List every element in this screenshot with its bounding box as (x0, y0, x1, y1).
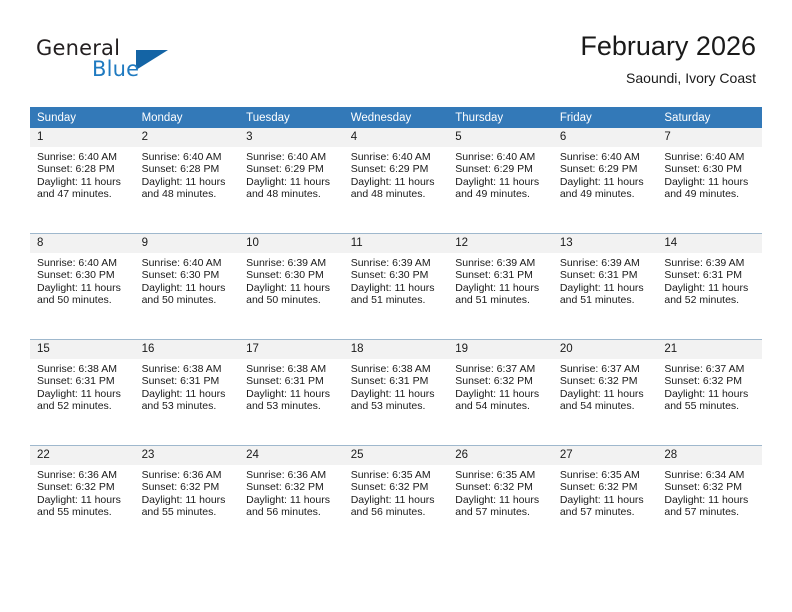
day-number: 23 (135, 446, 240, 465)
calendar-day-cell[interactable]: 20Sunrise: 6:37 AMSunset: 6:32 PMDayligh… (553, 340, 658, 446)
day-number: 22 (30, 446, 135, 465)
page-subtitle: Saoundi, Ivory Coast (580, 70, 756, 87)
calendar-day-cell[interactable]: 6Sunrise: 6:40 AMSunset: 6:29 PMDaylight… (553, 128, 658, 234)
day-number: 19 (448, 340, 553, 359)
daylight-text: Daylight: 11 hours and 51 minutes. (455, 282, 545, 307)
day-details: Sunrise: 6:38 AMSunset: 6:31 PMDaylight:… (344, 359, 449, 413)
day-number: 18 (344, 340, 449, 359)
day-details: Sunrise: 6:36 AMSunset: 6:32 PMDaylight:… (30, 465, 135, 519)
daylight-text: Daylight: 11 hours and 55 minutes. (37, 494, 127, 519)
calendar-day-cell[interactable]: 17Sunrise: 6:38 AMSunset: 6:31 PMDayligh… (239, 340, 344, 446)
sunrise-text: Sunrise: 6:40 AM (664, 151, 754, 163)
sunrise-text: Sunrise: 6:39 AM (664, 257, 754, 269)
sunrise-text: Sunrise: 6:40 AM (246, 151, 336, 163)
day-details: Sunrise: 6:39 AMSunset: 6:31 PMDaylight:… (657, 253, 762, 307)
daylight-text: Daylight: 11 hours and 57 minutes. (455, 494, 545, 519)
sunrise-text: Sunrise: 6:38 AM (246, 363, 336, 375)
sunrise-text: Sunrise: 6:37 AM (455, 363, 545, 375)
sunset-text: Sunset: 6:32 PM (246, 481, 336, 493)
sunset-text: Sunset: 6:32 PM (664, 375, 754, 387)
sunset-text: Sunset: 6:29 PM (351, 163, 441, 175)
sunrise-text: Sunrise: 6:40 AM (37, 151, 127, 163)
daylight-text: Daylight: 11 hours and 48 minutes. (246, 176, 336, 201)
sunrise-text: Sunrise: 6:40 AM (142, 257, 232, 269)
daylight-text: Daylight: 11 hours and 52 minutes. (37, 388, 127, 413)
daylight-text: Daylight: 11 hours and 50 minutes. (246, 282, 336, 307)
sunrise-text: Sunrise: 6:38 AM (37, 363, 127, 375)
day-details: Sunrise: 6:40 AMSunset: 6:29 PMDaylight:… (553, 147, 658, 201)
day-details: Sunrise: 6:40 AMSunset: 6:29 PMDaylight:… (344, 147, 449, 201)
calendar-day-cell[interactable]: 5Sunrise: 6:40 AMSunset: 6:29 PMDaylight… (448, 128, 553, 234)
day-number: 1 (30, 128, 135, 147)
calendar-day-cell[interactable]: 18Sunrise: 6:38 AMSunset: 6:31 PMDayligh… (344, 340, 449, 446)
calendar-day-cell[interactable]: 7Sunrise: 6:40 AMSunset: 6:30 PMDaylight… (657, 128, 762, 234)
day-details: Sunrise: 6:35 AMSunset: 6:32 PMDaylight:… (344, 465, 449, 519)
sunrise-text: Sunrise: 6:39 AM (560, 257, 650, 269)
calendar-day-cell[interactable]: 27Sunrise: 6:35 AMSunset: 6:32 PMDayligh… (553, 446, 658, 552)
day-details: Sunrise: 6:38 AMSunset: 6:31 PMDaylight:… (30, 359, 135, 413)
sunrise-text: Sunrise: 6:34 AM (664, 469, 754, 481)
daylight-text: Daylight: 11 hours and 57 minutes. (560, 494, 650, 519)
sunrise-text: Sunrise: 6:35 AM (455, 469, 545, 481)
calendar-day-cell[interactable]: 8Sunrise: 6:40 AMSunset: 6:30 PMDaylight… (30, 234, 135, 340)
daylight-text: Daylight: 11 hours and 51 minutes. (560, 282, 650, 307)
sunset-text: Sunset: 6:31 PM (246, 375, 336, 387)
calendar-day-cell[interactable]: 4Sunrise: 6:40 AMSunset: 6:29 PMDaylight… (344, 128, 449, 234)
day-number: 13 (553, 234, 658, 253)
calendar-header-row: Sunday Monday Tuesday Wednesday Thursday… (30, 107, 762, 128)
calendar-page: General Blue February 2026 Saoundi, Ivor… (0, 0, 792, 612)
daylight-text: Daylight: 11 hours and 53 minutes. (246, 388, 336, 413)
sunset-text: Sunset: 6:32 PM (37, 481, 127, 493)
daylight-text: Daylight: 11 hours and 56 minutes. (246, 494, 336, 519)
sunrise-text: Sunrise: 6:36 AM (37, 469, 127, 481)
day-details: Sunrise: 6:38 AMSunset: 6:31 PMDaylight:… (135, 359, 240, 413)
sunrise-text: Sunrise: 6:37 AM (664, 363, 754, 375)
calendar-day-cell[interactable]: 26Sunrise: 6:35 AMSunset: 6:32 PMDayligh… (448, 446, 553, 552)
day-number: 28 (657, 446, 762, 465)
calendar-day-cell[interactable]: 12Sunrise: 6:39 AMSunset: 6:31 PMDayligh… (448, 234, 553, 340)
weekday-header-sunday: Sunday (30, 107, 135, 128)
day-details: Sunrise: 6:39 AMSunset: 6:31 PMDaylight:… (448, 253, 553, 307)
day-number: 16 (135, 340, 240, 359)
daylight-text: Daylight: 11 hours and 49 minutes. (664, 176, 754, 201)
daylight-text: Daylight: 11 hours and 48 minutes. (351, 176, 441, 201)
daylight-text: Daylight: 11 hours and 50 minutes. (37, 282, 127, 307)
daylight-text: Daylight: 11 hours and 49 minutes. (560, 176, 650, 201)
calendar-day-cell[interactable]: 11Sunrise: 6:39 AMSunset: 6:30 PMDayligh… (344, 234, 449, 340)
calendar-day-cell[interactable]: 28Sunrise: 6:34 AMSunset: 6:32 PMDayligh… (657, 446, 762, 552)
day-details: Sunrise: 6:39 AMSunset: 6:30 PMDaylight:… (344, 253, 449, 307)
sunrise-text: Sunrise: 6:35 AM (351, 469, 441, 481)
sunset-text: Sunset: 6:29 PM (560, 163, 650, 175)
day-details: Sunrise: 6:36 AMSunset: 6:32 PMDaylight:… (135, 465, 240, 519)
weekday-header-wednesday: Wednesday (344, 107, 449, 128)
sunrise-text: Sunrise: 6:36 AM (246, 469, 336, 481)
daylight-text: Daylight: 11 hours and 54 minutes. (560, 388, 650, 413)
daylight-text: Daylight: 11 hours and 52 minutes. (664, 282, 754, 307)
calendar-day-cell[interactable]: 1Sunrise: 6:40 AMSunset: 6:28 PMDaylight… (30, 128, 135, 234)
weekday-header-friday: Friday (553, 107, 658, 128)
day-number: 2 (135, 128, 240, 147)
day-number: 6 (553, 128, 658, 147)
daylight-text: Daylight: 11 hours and 55 minutes. (664, 388, 754, 413)
title-block: February 2026 Saoundi, Ivory Coast (580, 30, 756, 87)
calendar-day-cell[interactable]: 15Sunrise: 6:38 AMSunset: 6:31 PMDayligh… (30, 340, 135, 446)
day-number: 7 (657, 128, 762, 147)
day-details: Sunrise: 6:35 AMSunset: 6:32 PMDaylight:… (448, 465, 553, 519)
sunset-text: Sunset: 6:29 PM (246, 163, 336, 175)
daylight-text: Daylight: 11 hours and 54 minutes. (455, 388, 545, 413)
daylight-text: Daylight: 11 hours and 48 minutes. (142, 176, 232, 201)
sunset-text: Sunset: 6:32 PM (664, 481, 754, 493)
day-details: Sunrise: 6:40 AMSunset: 6:29 PMDaylight:… (239, 147, 344, 201)
sunset-text: Sunset: 6:28 PM (142, 163, 232, 175)
sunrise-text: Sunrise: 6:40 AM (37, 257, 127, 269)
day-number: 24 (239, 446, 344, 465)
general-blue-logo: General Blue (36, 36, 236, 86)
sunrise-text: Sunrise: 6:40 AM (560, 151, 650, 163)
calendar-day-cell[interactable]: 9Sunrise: 6:40 AMSunset: 6:30 PMDaylight… (135, 234, 240, 340)
day-details: Sunrise: 6:37 AMSunset: 6:32 PMDaylight:… (448, 359, 553, 413)
calendar-day-cell[interactable]: 3Sunrise: 6:40 AMSunset: 6:29 PMDaylight… (239, 128, 344, 234)
sunset-text: Sunset: 6:30 PM (664, 163, 754, 175)
day-number: 12 (448, 234, 553, 253)
sunset-text: Sunset: 6:31 PM (560, 269, 650, 281)
sunrise-text: Sunrise: 6:39 AM (246, 257, 336, 269)
weekday-header-thursday: Thursday (448, 107, 553, 128)
sunrise-text: Sunrise: 6:40 AM (351, 151, 441, 163)
day-details: Sunrise: 6:40 AMSunset: 6:30 PMDaylight:… (30, 253, 135, 307)
calendar-day-cell[interactable]: 13Sunrise: 6:39 AMSunset: 6:31 PMDayligh… (553, 234, 658, 340)
sunset-text: Sunset: 6:32 PM (560, 481, 650, 493)
day-details: Sunrise: 6:40 AMSunset: 6:28 PMDaylight:… (30, 147, 135, 201)
sunset-text: Sunset: 6:32 PM (455, 375, 545, 387)
day-number: 27 (553, 446, 658, 465)
sunset-text: Sunset: 6:32 PM (142, 481, 232, 493)
day-details: Sunrise: 6:40 AMSunset: 6:30 PMDaylight:… (657, 147, 762, 201)
sunrise-text: Sunrise: 6:37 AM (560, 363, 650, 375)
sunset-text: Sunset: 6:31 PM (37, 375, 127, 387)
day-number: 17 (239, 340, 344, 359)
day-details: Sunrise: 6:36 AMSunset: 6:32 PMDaylight:… (239, 465, 344, 519)
sunrise-text: Sunrise: 6:35 AM (560, 469, 650, 481)
day-details: Sunrise: 6:40 AMSunset: 6:28 PMDaylight:… (135, 147, 240, 201)
sunset-text: Sunset: 6:30 PM (37, 269, 127, 281)
daylight-text: Daylight: 11 hours and 55 minutes. (142, 494, 232, 519)
calendar-week-row: 22Sunrise: 6:36 AMSunset: 6:32 PMDayligh… (30, 446, 762, 552)
weekday-header-saturday: Saturday (657, 107, 762, 128)
daylight-text: Daylight: 11 hours and 53 minutes. (142, 388, 232, 413)
day-details: Sunrise: 6:35 AMSunset: 6:32 PMDaylight:… (553, 465, 658, 519)
logo-triangle-icon (136, 50, 168, 70)
weekday-header-tuesday: Tuesday (239, 107, 344, 128)
day-details: Sunrise: 6:40 AMSunset: 6:29 PMDaylight:… (448, 147, 553, 201)
daylight-text: Daylight: 11 hours and 53 minutes. (351, 388, 441, 413)
calendar-week-row: 1Sunrise: 6:40 AMSunset: 6:28 PMDaylight… (30, 128, 762, 234)
page-title: February 2026 (580, 30, 756, 62)
calendar-day-cell[interactable]: 10Sunrise: 6:39 AMSunset: 6:30 PMDayligh… (239, 234, 344, 340)
day-details: Sunrise: 6:37 AMSunset: 6:32 PMDaylight:… (553, 359, 658, 413)
day-details: Sunrise: 6:40 AMSunset: 6:30 PMDaylight:… (135, 253, 240, 307)
daylight-text: Daylight: 11 hours and 49 minutes. (455, 176, 545, 201)
sunset-text: Sunset: 6:30 PM (351, 269, 441, 281)
day-details: Sunrise: 6:38 AMSunset: 6:31 PMDaylight:… (239, 359, 344, 413)
page-header: General Blue February 2026 Saoundi, Ivor… (0, 0, 792, 100)
sunset-text: Sunset: 6:31 PM (664, 269, 754, 281)
day-number: 4 (344, 128, 449, 147)
day-number: 20 (553, 340, 658, 359)
day-number: 15 (30, 340, 135, 359)
sunrise-text: Sunrise: 6:36 AM (142, 469, 232, 481)
day-number: 14 (657, 234, 762, 253)
sunset-text: Sunset: 6:31 PM (142, 375, 232, 387)
day-number: 3 (239, 128, 344, 147)
sunset-text: Sunset: 6:29 PM (455, 163, 545, 175)
sunrise-text: Sunrise: 6:38 AM (142, 363, 232, 375)
day-number: 25 (344, 446, 449, 465)
calendar-day-cell[interactable]: 23Sunrise: 6:36 AMSunset: 6:32 PMDayligh… (135, 446, 240, 552)
sunrise-text: Sunrise: 6:38 AM (351, 363, 441, 375)
daylight-text: Daylight: 11 hours and 51 minutes. (351, 282, 441, 307)
day-number: 8 (30, 234, 135, 253)
day-details: Sunrise: 6:37 AMSunset: 6:32 PMDaylight:… (657, 359, 762, 413)
sunset-text: Sunset: 6:32 PM (455, 481, 545, 493)
calendar-week-row: 15Sunrise: 6:38 AMSunset: 6:31 PMDayligh… (30, 340, 762, 446)
calendar-day-cell[interactable]: 2Sunrise: 6:40 AMSunset: 6:28 PMDaylight… (135, 128, 240, 234)
sunset-text: Sunset: 6:30 PM (142, 269, 232, 281)
calendar-day-cell[interactable]: 21Sunrise: 6:37 AMSunset: 6:32 PMDayligh… (657, 340, 762, 446)
day-number: 5 (448, 128, 553, 147)
sunset-text: Sunset: 6:31 PM (455, 269, 545, 281)
sunset-text: Sunset: 6:30 PM (246, 269, 336, 281)
calendar-day-cell[interactable]: 19Sunrise: 6:37 AMSunset: 6:32 PMDayligh… (448, 340, 553, 446)
day-number: 9 (135, 234, 240, 253)
sunset-text: Sunset: 6:28 PM (37, 163, 127, 175)
daylight-text: Daylight: 11 hours and 50 minutes. (142, 282, 232, 307)
weekday-header-monday: Monday (135, 107, 240, 128)
sunset-text: Sunset: 6:32 PM (351, 481, 441, 493)
day-number: 10 (239, 234, 344, 253)
sunset-text: Sunset: 6:31 PM (351, 375, 441, 387)
daylight-text: Daylight: 11 hours and 57 minutes. (664, 494, 754, 519)
calendar-week-row: 8Sunrise: 6:40 AMSunset: 6:30 PMDaylight… (30, 234, 762, 340)
calendar-day-cell[interactable]: 25Sunrise: 6:35 AMSunset: 6:32 PMDayligh… (344, 446, 449, 552)
logo-text-blue: Blue (92, 57, 139, 81)
sunrise-sunset-calendar-table: Sunday Monday Tuesday Wednesday Thursday… (30, 107, 762, 551)
daylight-text: Daylight: 11 hours and 56 minutes. (351, 494, 441, 519)
calendar-day-cell[interactable]: 16Sunrise: 6:38 AMSunset: 6:31 PMDayligh… (135, 340, 240, 446)
daylight-text: Daylight: 11 hours and 47 minutes. (37, 176, 127, 201)
day-details: Sunrise: 6:39 AMSunset: 6:30 PMDaylight:… (239, 253, 344, 307)
calendar-day-cell[interactable]: 22Sunrise: 6:36 AMSunset: 6:32 PMDayligh… (30, 446, 135, 552)
sunrise-text: Sunrise: 6:40 AM (455, 151, 545, 163)
calendar-day-cell[interactable]: 14Sunrise: 6:39 AMSunset: 6:31 PMDayligh… (657, 234, 762, 340)
sunset-text: Sunset: 6:32 PM (560, 375, 650, 387)
calendar-day-cell[interactable]: 24Sunrise: 6:36 AMSunset: 6:32 PMDayligh… (239, 446, 344, 552)
day-details: Sunrise: 6:34 AMSunset: 6:32 PMDaylight:… (657, 465, 762, 519)
day-number: 11 (344, 234, 449, 253)
day-number: 21 (657, 340, 762, 359)
day-number: 26 (448, 446, 553, 465)
sunrise-text: Sunrise: 6:40 AM (142, 151, 232, 163)
sunrise-text: Sunrise: 6:39 AM (351, 257, 441, 269)
calendar-body: 1Sunrise: 6:40 AMSunset: 6:28 PMDaylight… (30, 128, 762, 551)
day-details: Sunrise: 6:39 AMSunset: 6:31 PMDaylight:… (553, 253, 658, 307)
sunrise-text: Sunrise: 6:39 AM (455, 257, 545, 269)
